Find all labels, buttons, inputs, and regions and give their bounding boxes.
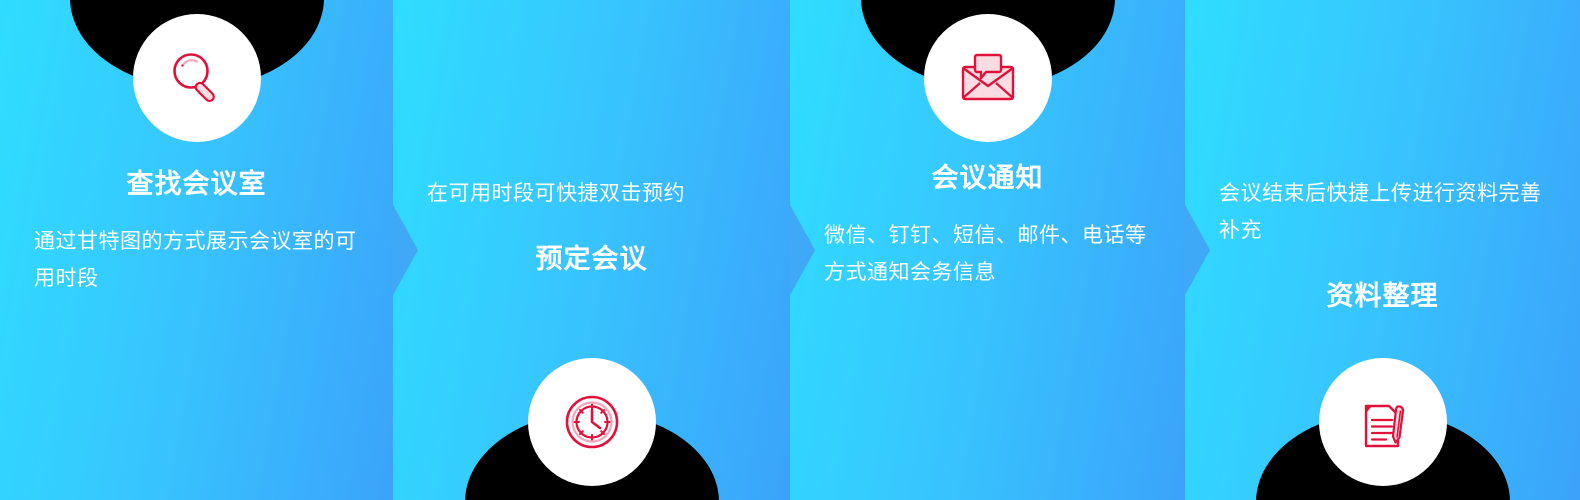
- panel-content: 查找会议室 通过甘特图的方式展示会议室的可用时段: [0, 168, 393, 298]
- step-panel-1: 查找会议室 通过甘特图的方式展示会议室的可用时段: [0, 0, 393, 500]
- step-title: 资料整理: [1219, 280, 1546, 312]
- step-description: 通过甘特图的方式展示会议室的可用时段: [34, 224, 359, 298]
- step-description: 在可用时段可快捷双击预约: [427, 176, 756, 213]
- panel-content: 会议通知 微信、钉钉、短信、邮件、电话等方式通知会务信息: [790, 162, 1185, 292]
- panel-content: 会议结束后快捷上传进行资料完善补充 资料整理: [1185, 176, 1580, 312]
- document-pen-icon: [1350, 389, 1416, 455]
- step-panel-2: 在可用时段可快捷双击预约 预定会议: [393, 0, 790, 500]
- step-title: 会议通知: [824, 162, 1151, 194]
- envelope-message-icon: [953, 45, 1023, 111]
- clock-icon: [559, 389, 625, 455]
- step-description: 会议结束后快捷上传进行资料完善补充: [1219, 176, 1546, 250]
- step-panel-4: 会议结束后快捷上传进行资料完善补充 资料整理: [1185, 0, 1580, 500]
- step-description: 微信、钉钉、短信、邮件、电话等方式通知会务信息: [824, 218, 1151, 292]
- icon-circle: [924, 14, 1052, 142]
- icon-circle: [528, 358, 656, 486]
- panel-content: 在可用时段可快捷双击预约 预定会议: [393, 176, 790, 275]
- step-title: 查找会议室: [34, 168, 359, 200]
- process-flow-banner: 查找会议室 通过甘特图的方式展示会议室的可用时段: [0, 0, 1580, 500]
- icon-circle: [1319, 358, 1447, 486]
- icon-circle: [133, 14, 261, 142]
- magnifier-icon: [164, 45, 230, 111]
- step-title: 预定会议: [427, 243, 756, 275]
- step-panel-3: 会议通知 微信、钉钉、短信、邮件、电话等方式通知会务信息: [790, 0, 1185, 500]
